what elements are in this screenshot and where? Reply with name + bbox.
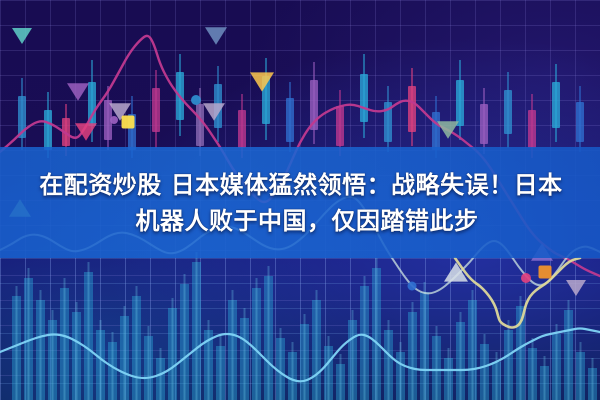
candle-body [528, 110, 536, 148]
marker-triangle-down-icon [437, 121, 459, 139]
marker-triangle-down-icon [566, 280, 586, 296]
candle-body [432, 112, 440, 150]
chart-background-banner: 在配资炒股 日本媒体猛然领悟：战略失误！日本 机器人败于中国，仅因踏错此步 [0, 0, 600, 400]
marker-square-icon [122, 116, 135, 129]
candle-body [504, 90, 512, 134]
marker-circle-icon [408, 282, 417, 291]
candle-body [456, 80, 464, 126]
candle-body [196, 104, 204, 146]
marker-circle-icon [521, 273, 531, 283]
marker-triangle-down-icon [75, 123, 97, 141]
marker-triangle-down-icon [250, 72, 274, 91]
candle-body [238, 110, 246, 148]
marker-circle-icon [191, 95, 201, 105]
candle-body [152, 88, 160, 132]
candle-body [480, 104, 488, 144]
headline-line-2: 机器人败于中国，仅因踏错此步 [122, 204, 479, 238]
candle-body [286, 98, 294, 142]
headline-line-1: 在配资炒股 日本媒体猛然领悟：战略失误！日本 [37, 168, 562, 202]
marker-triangle-down-icon [67, 83, 89, 101]
marker-triangle-down-icon [205, 27, 227, 45]
candle-body [44, 110, 52, 150]
marker-circle-icon [110, 116, 118, 124]
marker-square-icon [539, 266, 552, 279]
candle-body [552, 82, 560, 128]
candle-body [360, 74, 368, 122]
candle-body [408, 86, 416, 132]
candle-body [576, 102, 584, 142]
marker-triangle-down-icon [12, 28, 32, 44]
headline: 在配资炒股 日本媒体猛然领悟：战略失误！日本 机器人败于中国，仅因踏错此步 [0, 147, 600, 258]
candle-body [336, 106, 344, 146]
